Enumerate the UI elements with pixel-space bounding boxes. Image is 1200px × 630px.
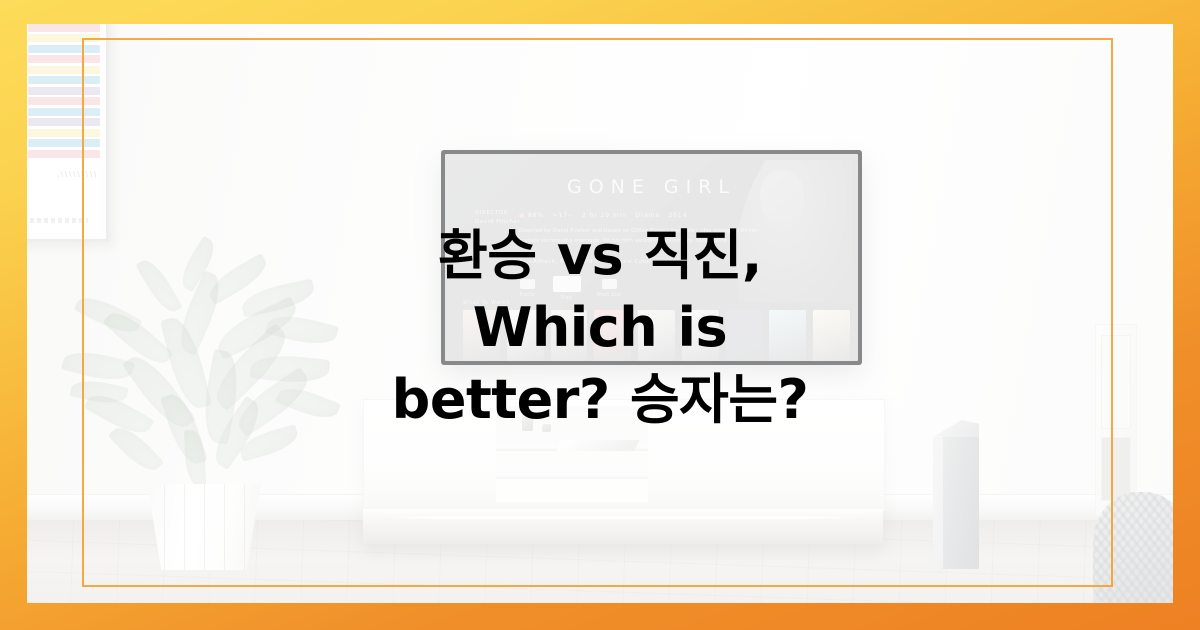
artwork-stripe xyxy=(28,76,100,84)
artwork-stripe xyxy=(28,139,100,147)
console-laptop xyxy=(556,440,639,451)
artwork-stripe xyxy=(28,97,100,105)
plant-leaf xyxy=(184,430,206,487)
console-plinth xyxy=(363,509,883,544)
artwork-stripe xyxy=(28,55,100,63)
framed-artwork xyxy=(27,24,109,242)
artwork-stripe xyxy=(28,118,100,126)
headline-line-2: Which is xyxy=(27,292,1173,364)
artwork-stripe xyxy=(28,24,100,32)
headline-line-1: 환승 vs 직진, xyxy=(27,220,1173,292)
artwork-stripe xyxy=(28,150,100,158)
artwork-stripe xyxy=(28,45,100,53)
cabinet-panel-bottom xyxy=(1101,437,1131,501)
headline-line-3: better? 승자는? xyxy=(27,364,1173,436)
artwork-stripe xyxy=(28,66,100,74)
artwork-stripe xyxy=(28,87,100,95)
knitted-pouf xyxy=(1093,492,1173,603)
artwork-signature xyxy=(58,171,96,177)
artwork-stripe xyxy=(28,129,100,137)
speaker-edge xyxy=(933,436,943,569)
console-plinth-lip xyxy=(385,516,861,519)
headline: 환승 vs 직진, Which is better? 승자는? xyxy=(27,220,1173,436)
console-shelf-lower xyxy=(496,474,648,479)
artwork-stripe xyxy=(28,34,100,42)
artwork-stripe xyxy=(28,108,100,116)
plant-pot xyxy=(141,484,267,570)
thumbnail-card: GONE GIRL DIRECTOR David Fincher ● 88% ~… xyxy=(0,0,1200,630)
artwork-stripes xyxy=(28,24,100,163)
tower-speaker xyxy=(933,436,979,569)
photo-window: GONE GIRL DIRECTOR David Fincher ● 88% ~… xyxy=(27,24,1173,603)
